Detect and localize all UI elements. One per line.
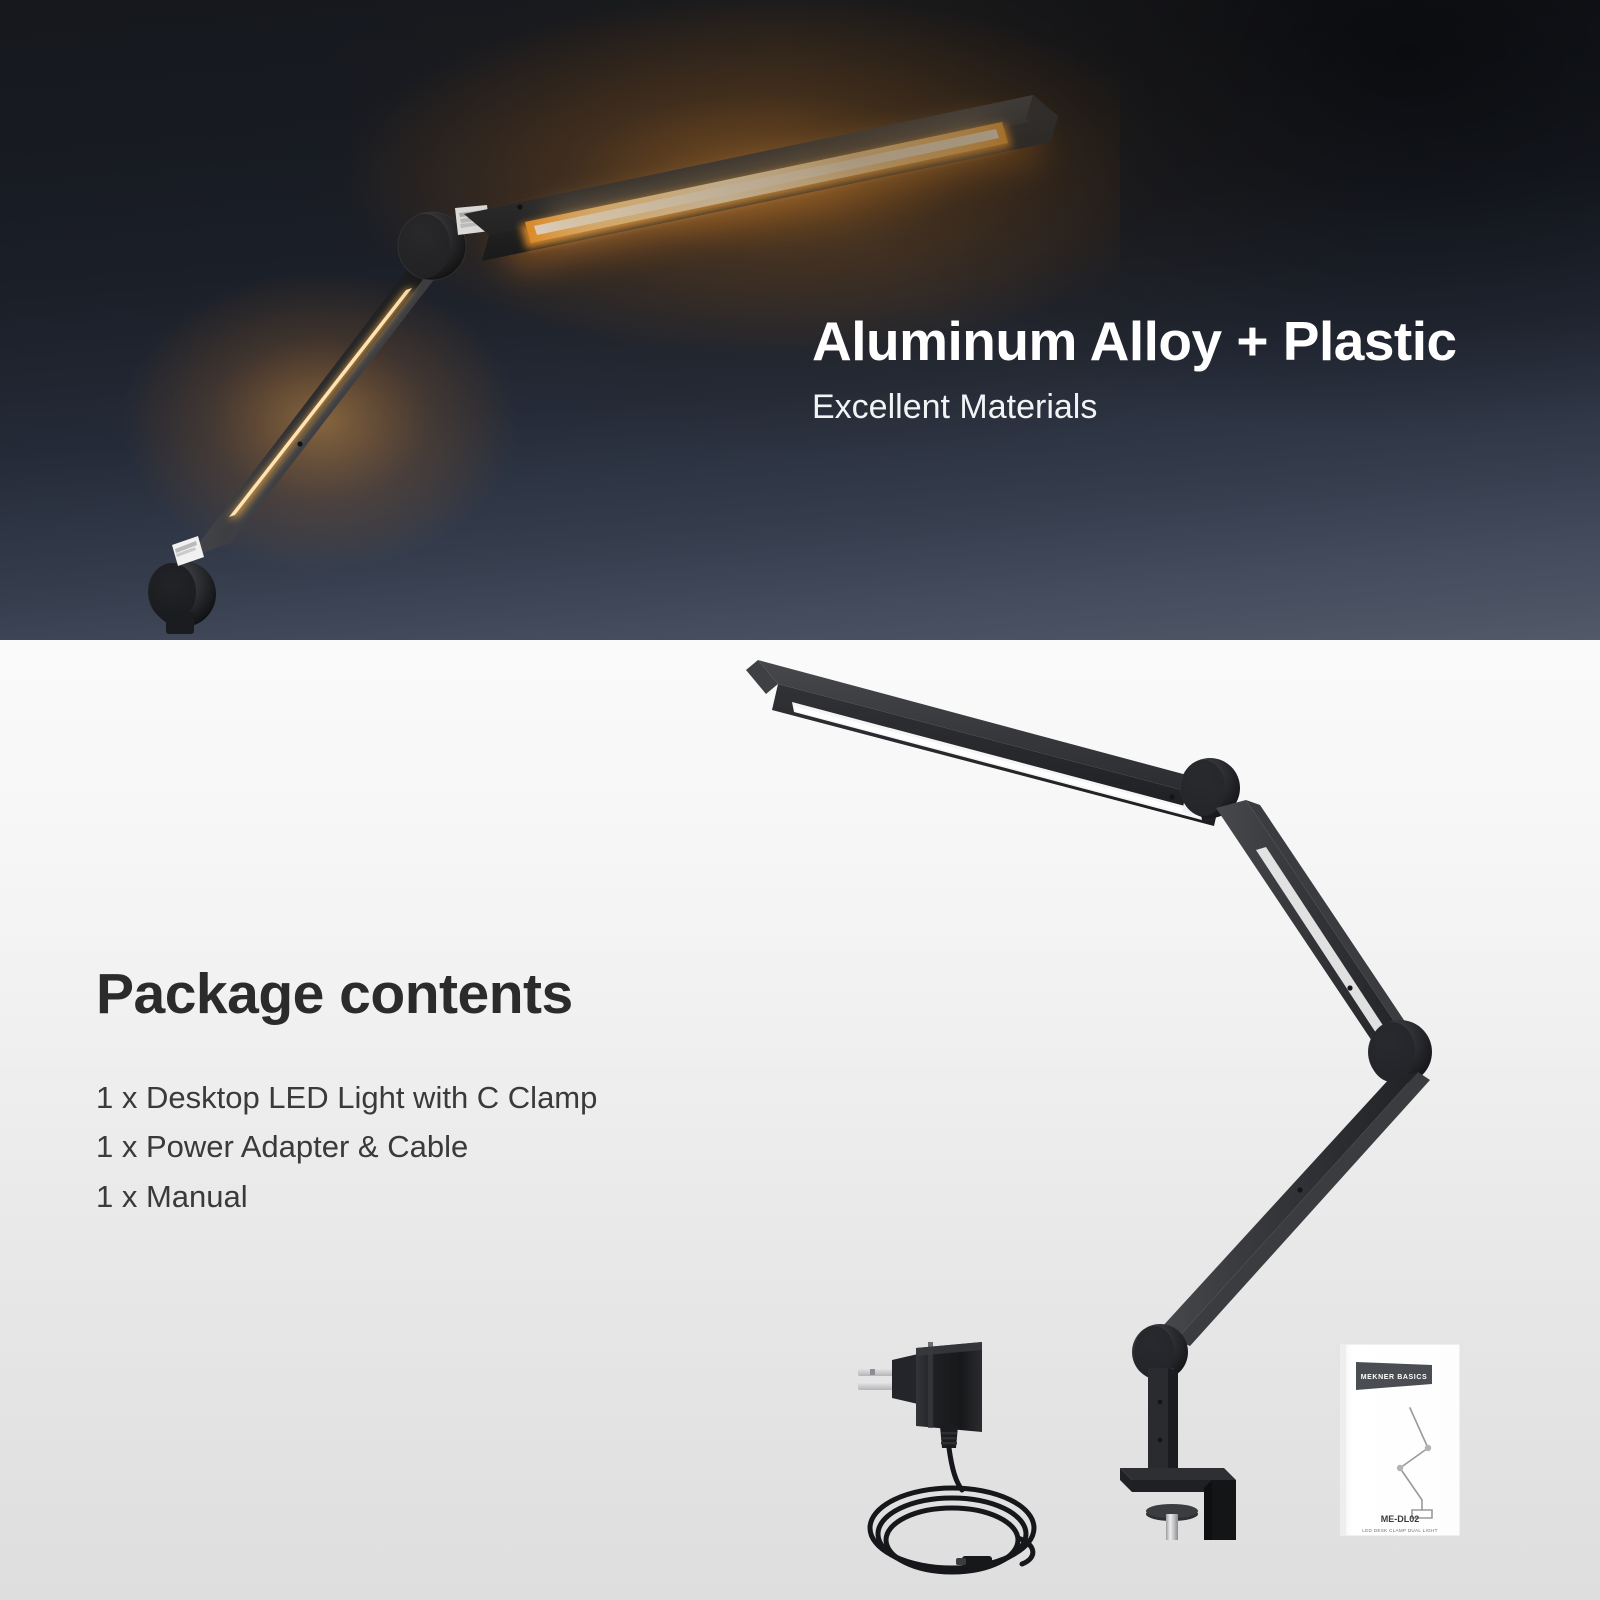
lamp-base-hub-unlit xyxy=(1132,1324,1188,1380)
lamp-lower-arm-unlit xyxy=(1150,1072,1430,1346)
manual-brand-text: MEKNER BASICS xyxy=(1361,1374,1428,1381)
base-label-sticker xyxy=(172,536,204,566)
adapter-body xyxy=(916,1342,982,1432)
manual-brand-banner: MEKNER BASICS xyxy=(1356,1362,1432,1390)
hero-title: Aluminum Alloy + Plastic xyxy=(812,312,1552,371)
lamp-head-bar xyxy=(464,95,1058,272)
package-contents-text-block: Package contents 1 x Desktop LED Light w… xyxy=(96,965,796,1222)
c-clamp xyxy=(1120,1468,1236,1540)
lamp-base-hub xyxy=(148,561,216,634)
lamp-top-hub xyxy=(1180,758,1240,818)
head-label-sticker xyxy=(1182,788,1206,817)
lamp-elbow-hub xyxy=(398,212,466,280)
lamp-head-bar-unlit xyxy=(746,660,1220,826)
clamp-post xyxy=(1148,1368,1178,1470)
package-contents-list: 1 x Desktop LED Light with C Clamp 1 x P… xyxy=(96,1073,796,1222)
adapter-prongs xyxy=(858,1368,896,1390)
lamp-lower-arm xyxy=(186,238,466,560)
hero-subtitle: Excellent Materials xyxy=(812,389,1552,426)
list-item: 1 x Manual xyxy=(96,1172,796,1222)
package-contents-panel: Package contents 1 x Desktop LED Light w… xyxy=(0,640,1600,1600)
hero-text-block: Aluminum Alloy + Plastic Excellent Mater… xyxy=(812,312,1552,427)
power-cable xyxy=(870,1448,1034,1572)
manual-model-subtitle: LED DESK CLAMP DUAL LIGHT xyxy=(1362,1528,1437,1533)
lamp-upper-arm xyxy=(1216,800,1426,1056)
materials-hero-panel: Aluminum Alloy + Plastic Excellent Mater… xyxy=(0,0,1600,640)
adapter-strain-relief xyxy=(940,1426,958,1448)
manual-cover-lamp-drawing xyxy=(1397,1408,1432,1518)
package-contents-title: Package contents xyxy=(96,965,796,1025)
list-item: 1 x Desktop LED Light with C Clamp xyxy=(96,1073,796,1123)
product-infographic: Aluminum Alloy + Plastic Excellent Mater… xyxy=(0,0,1600,1600)
manual-booklet-illustration: MEKNER BASICS ME-DL02 LED DESK CLAMP DUA… xyxy=(1332,1340,1468,1540)
lamp-unlit-illustration xyxy=(700,640,1500,1540)
elbow-label-sticker-unlit xyxy=(1386,1021,1412,1048)
manual-model-text: ME-DL02 xyxy=(1381,1514,1420,1524)
lamp-elbow-hub-unlit xyxy=(1368,1020,1432,1084)
elbow-label-sticker xyxy=(455,205,490,235)
list-item: 1 x Power Adapter & Cable xyxy=(96,1122,796,1172)
dc-barrel-connector xyxy=(956,1556,992,1567)
power-adapter-illustration xyxy=(840,1320,1070,1590)
clamp-screw xyxy=(1112,1504,1232,1540)
